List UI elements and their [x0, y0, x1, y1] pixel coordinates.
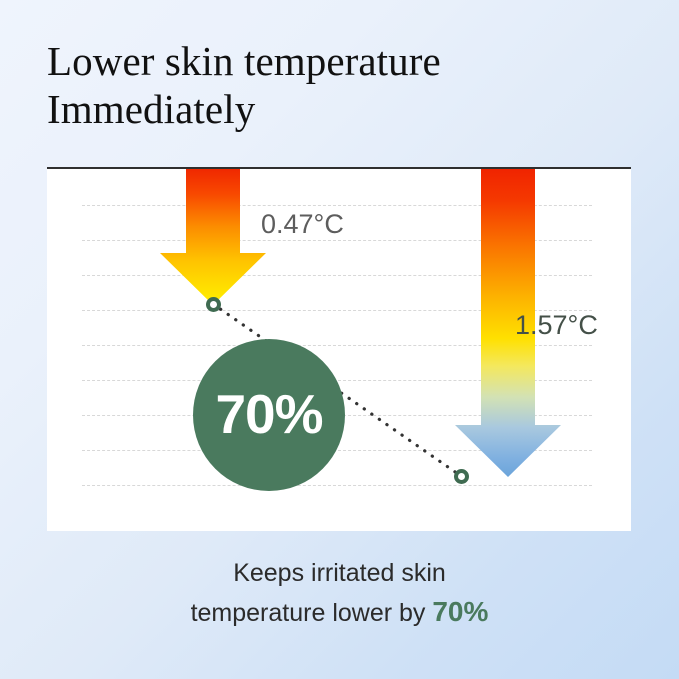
page-title-line-2: Immediately — [47, 86, 627, 134]
page-title-line-1: Lower skin temperature — [47, 38, 627, 86]
caption-accent-value: 70% — [432, 596, 488, 627]
caption-line-1: Keeps irritated skin — [0, 556, 679, 592]
temperature-label-high: 1.57°C — [515, 310, 598, 341]
caption: Keeps irritated skin temperature lower b… — [0, 556, 679, 631]
gridline — [82, 485, 592, 486]
page-title: Lower skin temperature Immediately — [47, 38, 627, 134]
temperature-arrow-low — [160, 169, 266, 305]
caption-line-2: temperature lower by 70% — [0, 592, 679, 632]
temperature-label-low: 0.47°C — [261, 209, 344, 240]
data-point-marker-high — [454, 469, 469, 484]
chart-panel: 0.47°C 1.57°C 70% — [47, 167, 631, 531]
infographic-root: Lower skin temperature Immediately — [0, 0, 679, 679]
caption-line-2-text: temperature lower by — [191, 599, 433, 627]
data-point-marker-low — [206, 297, 221, 312]
highlight-percentage-badge: 70% — [193, 339, 345, 491]
highlight-percentage-value: 70% — [215, 387, 322, 442]
